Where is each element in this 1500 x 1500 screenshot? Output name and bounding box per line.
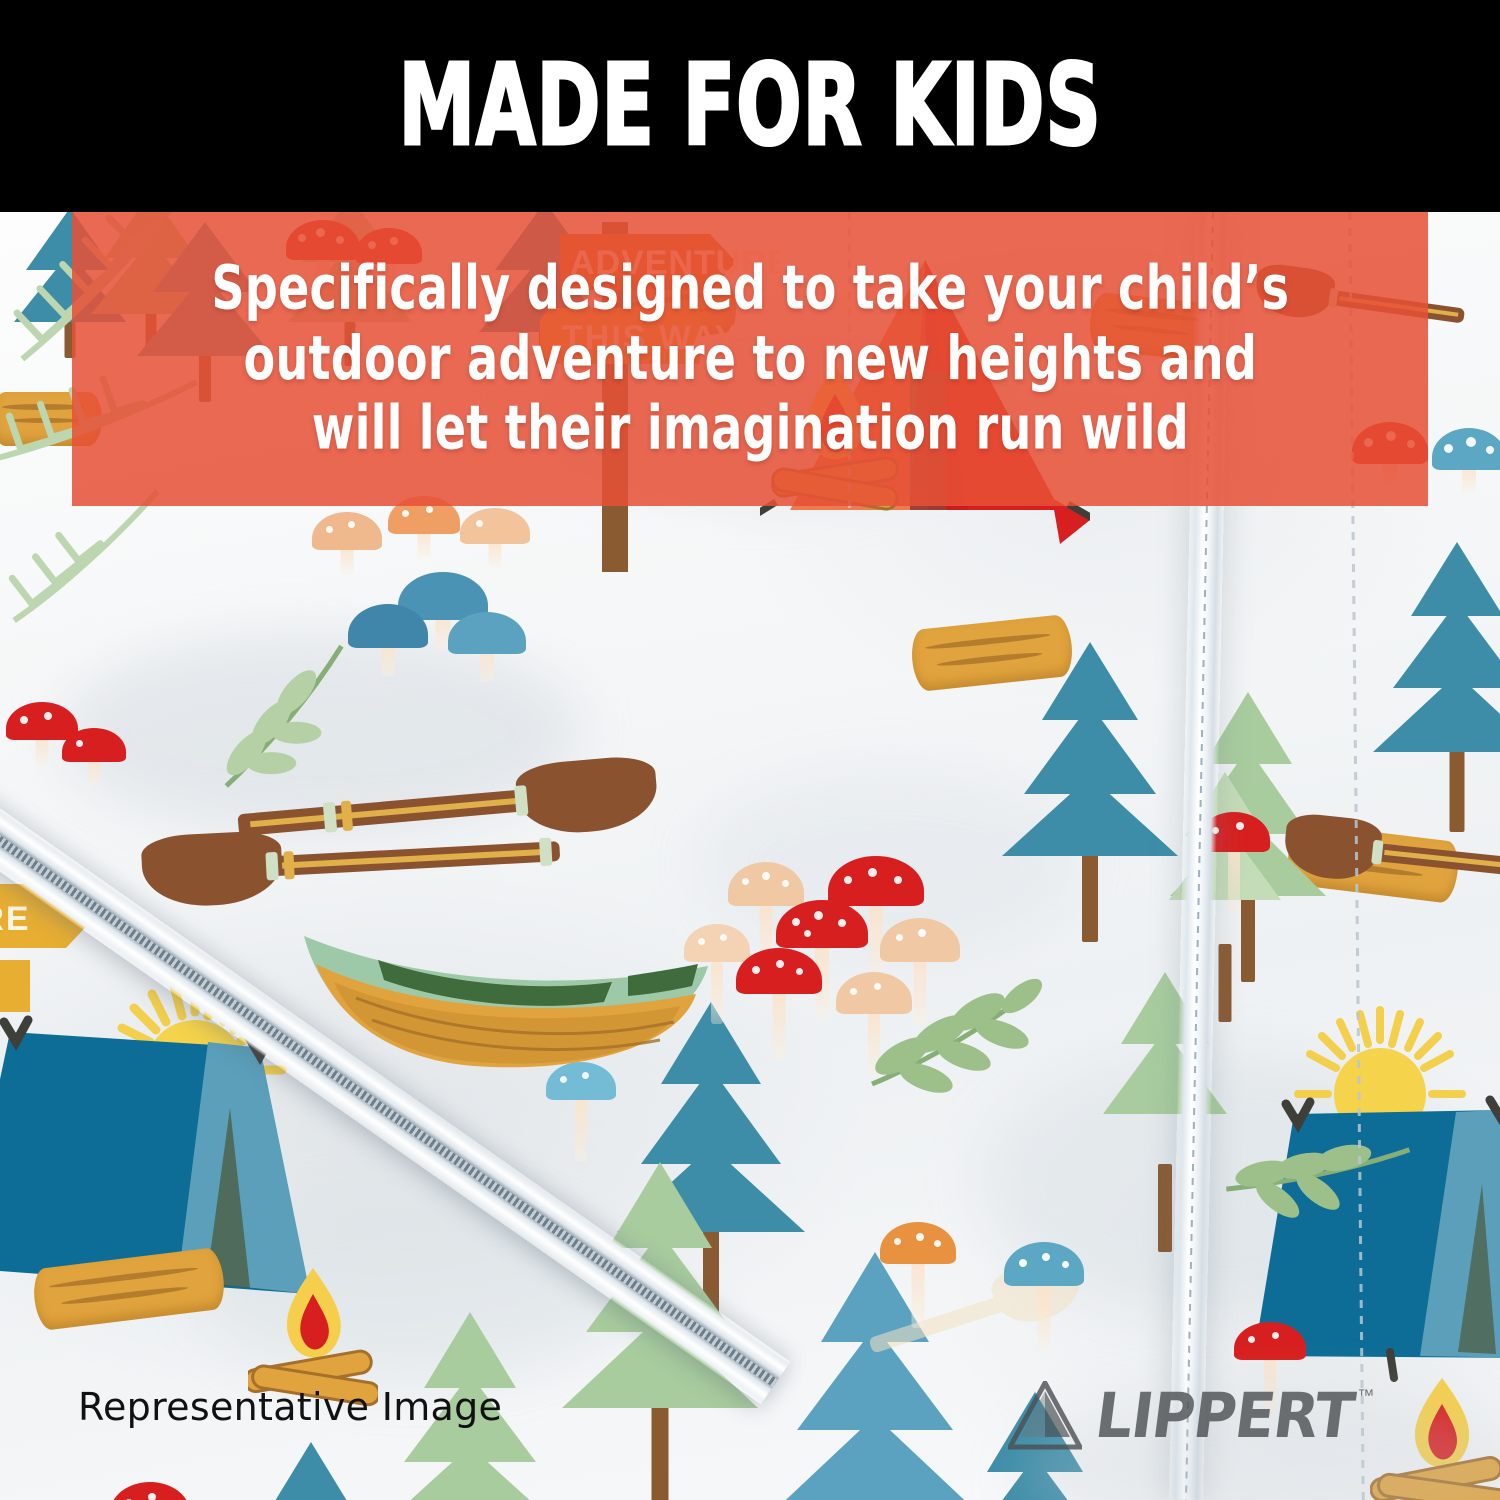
lippert-triangle-icon <box>1008 1381 1082 1451</box>
pine-tree-motif <box>226 1442 396 1500</box>
pine-tree-motif <box>1080 972 1250 1252</box>
svg-text:TURE: TURE <box>0 900 31 938</box>
mushroom-motif <box>62 728 126 786</box>
pine-tree-motif <box>1372 542 1500 832</box>
mushroom-motif <box>1432 428 1500 492</box>
trademark-symbol: ™ <box>1357 1386 1374 1406</box>
representative-image-disclaimer: Representative Image <box>78 1385 502 1429</box>
mushroom-motif <box>460 508 530 568</box>
banner-line-1: Specifically designed to take your child… <box>211 254 1289 324</box>
page-title: MADE FOR KIDS <box>398 50 1101 162</box>
paddle-motif <box>140 811 564 913</box>
mushroom-motif <box>546 1062 616 1162</box>
description-banner: Specifically designed to take your child… <box>72 212 1428 506</box>
header-bar: MADE FOR KIDS <box>0 0 1500 212</box>
product-marketing-image: ADVENTURE THIS WAY TURE AY <box>0 0 1500 1500</box>
mushroom-motif <box>1004 1242 1084 1350</box>
mushroom-motif <box>348 604 428 676</box>
lippert-logo: LIPPERT ™ <box>1008 1378 1438 1454</box>
leaf-sprig-motif <box>860 972 1050 1102</box>
mushroom-motif <box>110 1482 190 1500</box>
banner-text: Specifically designed to take your child… <box>186 254 1313 464</box>
banner-line-3: will let their imagination run wild <box>211 394 1289 464</box>
banner-line-2: outdoor adventure to new heights and <box>211 324 1289 394</box>
mushroom-motif <box>880 1222 956 1328</box>
mushroom-motif <box>448 612 526 682</box>
mushroom-motif <box>312 512 382 574</box>
lippert-wordmark: LIPPERT <box>1092 1385 1357 1447</box>
mushroom-motif <box>736 948 822 1060</box>
